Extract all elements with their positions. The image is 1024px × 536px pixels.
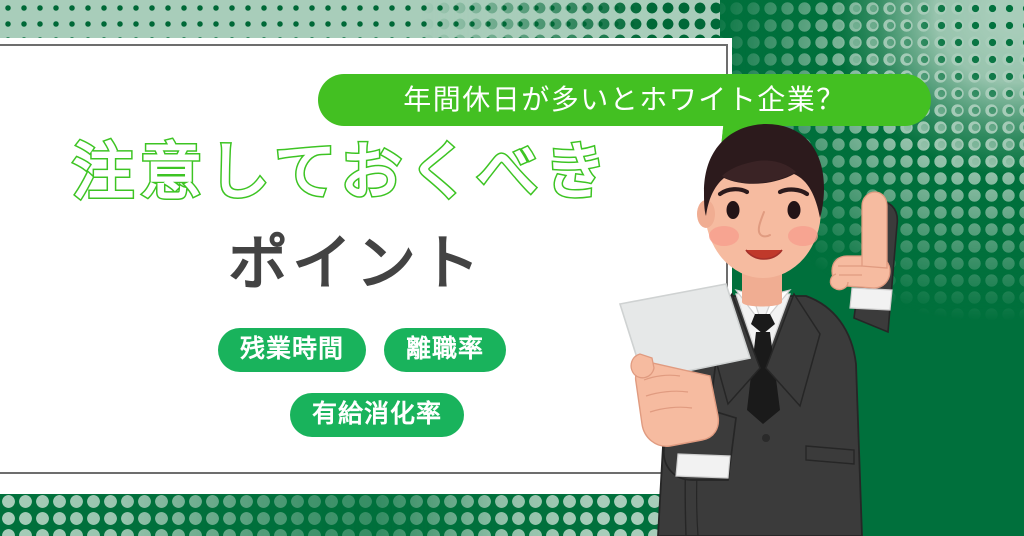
keyword-pill-row-1: 残業時間 離職率 <box>218 328 506 372</box>
halftone-pattern-top-left-dense <box>420 0 720 42</box>
headline-solid: ポイント <box>228 232 484 295</box>
keyword-pill-turnover-rate: 離職率 <box>384 328 506 372</box>
speech-bubble-text: 年間休日が多いとホワイト企業？ <box>403 86 846 114</box>
businessman-illustration <box>600 118 940 536</box>
headline-outlined: 注意しておくべき <box>72 140 672 205</box>
keyword-pill-row-2: 有給消化率 <box>290 393 464 437</box>
banner-canvas: 年間休日が多いとホワイト企業？ 注意しておくべき ポイント 残業時間 離職率 有… <box>0 0 1024 536</box>
keyword-pill-overtime: 残業時間 <box>218 328 366 372</box>
keyword-pill-paid-leave-rate: 有給消化率 <box>290 393 464 437</box>
